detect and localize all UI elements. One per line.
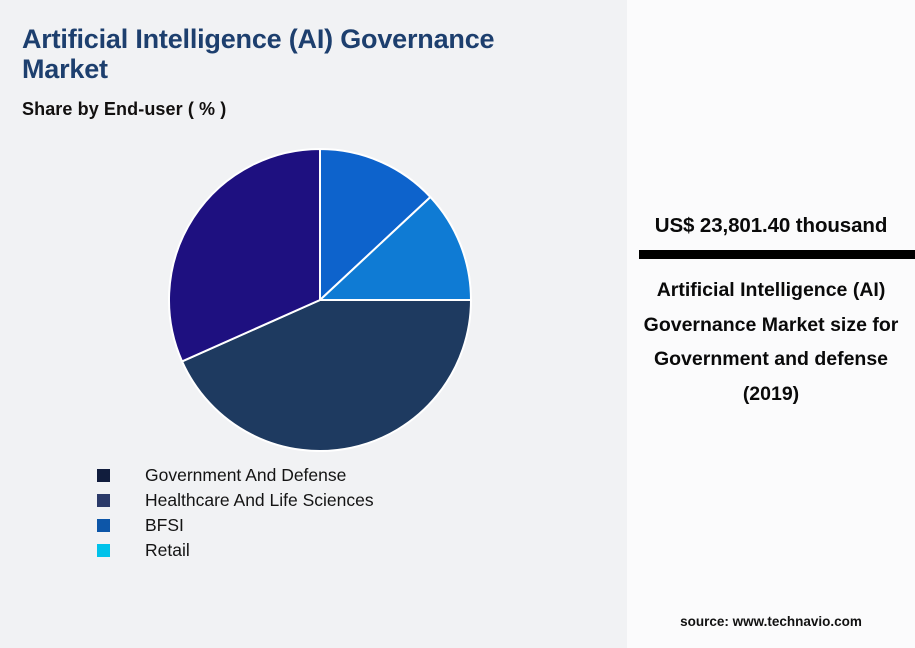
callout-description: Artificial Intelligence (AI) Governance … <box>635 273 907 412</box>
callout-panel: US$ 23,801.40 thousand Artificial Intell… <box>627 0 915 648</box>
legend-item-label: BFSI <box>145 515 184 536</box>
legend-item-label: Retail <box>145 540 190 561</box>
legend-item-bfsi[interactable]: BFSI <box>97 513 567 538</box>
legend-item-label: Healthcare And Life Sciences <box>145 490 374 511</box>
callout-divider <box>639 250 915 259</box>
chart-legend: Government And Defense Healthcare And Li… <box>97 463 567 563</box>
legend-item-retail[interactable]: Retail <box>97 538 567 563</box>
pie-chart <box>168 148 472 452</box>
legend-item-government-and-defense[interactable]: Government And Defense <box>97 463 567 488</box>
legend-item-label: Government And Defense <box>145 465 346 486</box>
legend-swatch-icon <box>97 544 110 557</box>
page-title: Artificial Intelligence (AI) Governance … <box>22 24 582 84</box>
legend-item-healthcare-and-life-sciences[interactable]: Healthcare And Life Sciences <box>97 488 567 513</box>
pie-chart-panel: Artificial Intelligence (AI) Governance … <box>0 0 627 648</box>
chart-infographic: Artificial Intelligence (AI) Governance … <box>0 0 915 648</box>
legend-swatch-icon <box>97 494 110 507</box>
callout-value: US$ 23,801.40 thousand <box>655 214 888 237</box>
chart-subtitle: Share by End-user ( % ) <box>22 99 226 120</box>
callout-value-row: US$ 23,801.40 thousand <box>627 214 915 238</box>
source-note: source: www.technavio.com <box>627 614 915 629</box>
legend-swatch-icon <box>97 469 110 482</box>
pie-chart-svg <box>168 148 472 452</box>
legend-swatch-icon <box>97 519 110 532</box>
